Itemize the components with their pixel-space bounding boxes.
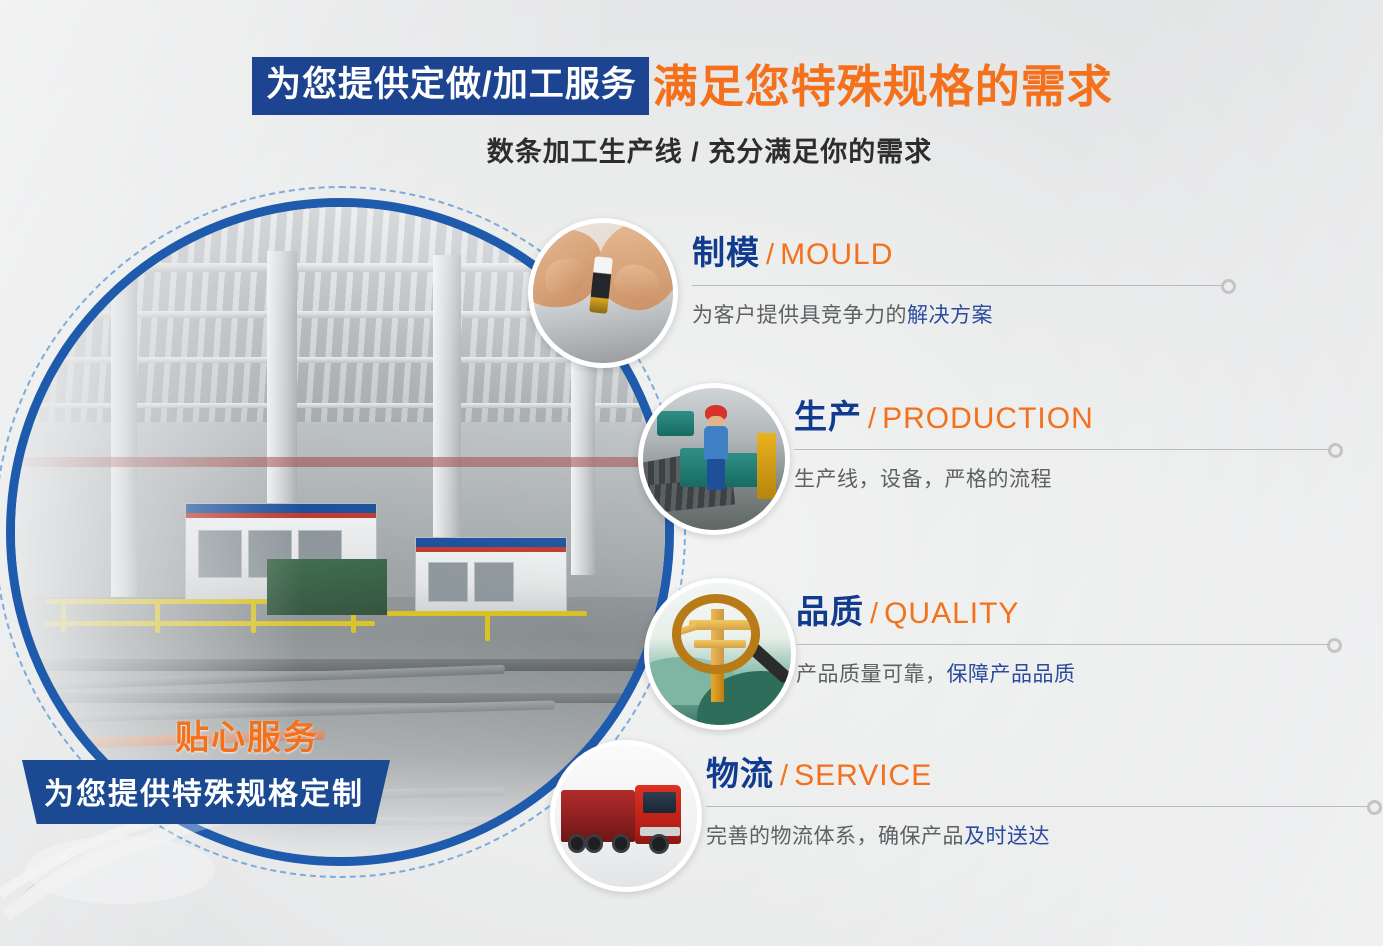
feature-title-en: PRODUCTION bbox=[882, 402, 1094, 435]
service-badge-banner: 为您提供特殊规格定制 bbox=[22, 760, 390, 824]
feature-rule bbox=[794, 449, 1329, 450]
logistics-truck-icon bbox=[550, 740, 702, 892]
header-subheadline: 数条加工生产线 / 充分满足你的需求 bbox=[0, 130, 1383, 169]
feature-title-cn: 制模 bbox=[692, 234, 760, 271]
mould-scribe-icon bbox=[528, 218, 678, 368]
feature-title: 物流/SERVICE bbox=[706, 757, 1368, 791]
feature-endpoint-dot bbox=[1221, 279, 1236, 294]
feature-title-slash: / bbox=[766, 239, 774, 271]
header-headline: 满足您特殊规格的需求 bbox=[653, 64, 1113, 109]
feature-endpoint-dot bbox=[1367, 800, 1382, 815]
production-worker-icon bbox=[638, 383, 790, 535]
feature-description: 为客户提供具竞争力的解决方案 bbox=[692, 299, 1222, 329]
feature-description: 完善的物流体系，确保产品及时送达 bbox=[706, 820, 1368, 850]
feature-desc-highlight: 及时送达 bbox=[964, 825, 1050, 848]
feature-desc-highlight: 保障产品品质 bbox=[947, 663, 1076, 686]
feature-desc-highlight: 解决方案 bbox=[907, 304, 993, 327]
feature-rule bbox=[796, 644, 1328, 645]
service-badge-title: 贴心服务 bbox=[175, 710, 319, 759]
feature-rule bbox=[692, 285, 1222, 286]
feature-rule bbox=[706, 806, 1368, 807]
feature-title-cn: 物流 bbox=[706, 755, 774, 792]
feature-title-en: QUALITY bbox=[884, 597, 1019, 630]
feature-title-en: MOULD bbox=[780, 238, 893, 271]
feature-title: 制模/MOULD bbox=[692, 236, 1222, 270]
feature-desc-plain: 完善的物流体系，确保产品 bbox=[706, 825, 964, 848]
feature-title-slash: / bbox=[870, 598, 878, 630]
feature-description: 生产线，设备，严格的流程 bbox=[794, 463, 1329, 493]
feature-endpoint-dot bbox=[1328, 443, 1343, 458]
promo-banner: 为您提供定做/加工服务 满足您特殊规格的需求 数条加工生产线 / 充分满足你的需… bbox=[0, 0, 1383, 946]
feature-title-en: SERVICE bbox=[794, 759, 932, 792]
feature-desc-plain: 生产线，设备，严格的流程 bbox=[794, 468, 1052, 491]
feature-desc-plain: 为客户提供具竞争力的 bbox=[692, 304, 907, 327]
feature-title-cn: 品质 bbox=[796, 593, 864, 630]
feature-description: 产品质量可靠，保障产品品质 bbox=[796, 658, 1328, 688]
feature-title-cn: 生产 bbox=[794, 398, 862, 435]
feature-endpoint-dot bbox=[1327, 638, 1342, 653]
feature-desc-plain: 产品质量可靠， bbox=[796, 663, 947, 686]
feature-title-slash: / bbox=[780, 760, 788, 792]
feature-title: 生产/PRODUCTION bbox=[794, 400, 1329, 434]
feature-title: 品质/QUALITY bbox=[796, 595, 1328, 629]
feature-title-slash: / bbox=[868, 403, 876, 435]
quality-magnifier-icon bbox=[644, 578, 796, 730]
header-badge: 为您提供定做/加工服务 bbox=[252, 57, 649, 115]
